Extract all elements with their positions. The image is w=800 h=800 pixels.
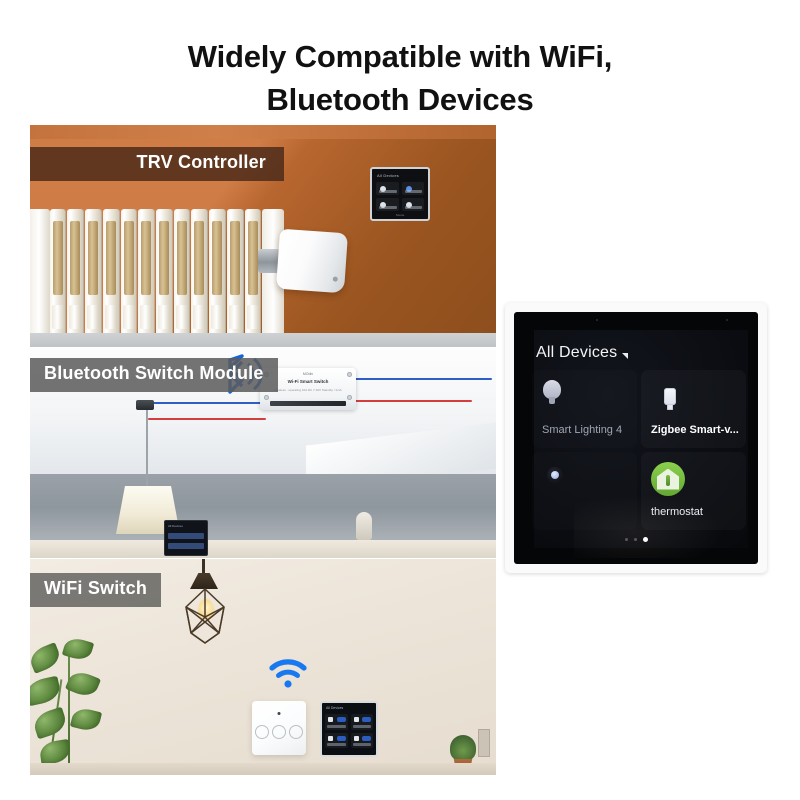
radiator-fin [50, 209, 67, 333]
wall-panel-title: All Devices [168, 524, 183, 528]
radiator-fin [85, 209, 102, 333]
decor-statue [356, 512, 372, 540]
room-wall [30, 474, 496, 558]
radiator-fin [174, 209, 191, 333]
device-toggle[interactable] [362, 717, 371, 722]
page-indicator[interactable] [514, 537, 758, 542]
radiator-fin [209, 209, 226, 333]
device-label-placeholder [327, 743, 346, 746]
status-led [278, 712, 281, 715]
device-icon [328, 717, 333, 722]
caption-wifi-switch: WiFi Switch [30, 573, 161, 607]
wall-panel-tile-grid [325, 714, 373, 748]
wall-panel-tile-grid [376, 182, 424, 211]
pendant-lamp-cord [146, 410, 148, 488]
panel-screen[interactable]: All Devices Smart Lighting 4 Zigbee Smar… [514, 312, 758, 564]
photo-panel-wifi-switch: All Devices [30, 559, 496, 775]
wall-panel-tile[interactable] [325, 714, 348, 730]
all-devices-title: All Devices [536, 344, 617, 362]
module-spec-label: Wireless · operating 10A DC 7-32V Standb… [268, 388, 348, 393]
smart-control-panel[interactable]: All Devices Smart Lighting 4 Zigbee Smar… [505, 303, 767, 573]
radiator-fin [103, 209, 120, 333]
wall-panel-tile[interactable] [325, 733, 348, 749]
page-title-line-1: Widely Compatible with WiFi, [188, 39, 612, 74]
device-label-placeholder [327, 725, 346, 728]
radiator-illustration [30, 209, 284, 333]
wall-panel-title: All Devices [377, 173, 399, 178]
device-tile-grid: Smart Lighting 4 Zigbee Smart-v... therm… [532, 370, 746, 530]
device-tile-color-light[interactable] [532, 452, 637, 530]
wifi-touch-switch-panel[interactable] [252, 701, 306, 755]
device-icon [328, 736, 333, 741]
plant-foliage [450, 735, 476, 761]
wire-red-right [352, 400, 472, 402]
wall-panel-tile-row[interactable] [168, 543, 204, 549]
page-dot-1[interactable] [625, 538, 628, 541]
chevron-down-icon[interactable] [622, 353, 628, 359]
pendant-cage-cord [202, 559, 205, 575]
page-title-line-2: Bluetooth Devices [0, 79, 800, 122]
product-photo-stack: All Devices Scene [30, 125, 496, 775]
potted-plant-left [30, 625, 144, 775]
device-label-placeholder [353, 743, 372, 746]
wire-blue-right [352, 378, 492, 380]
touch-button-1[interactable] [255, 725, 269, 739]
plant-leaf [30, 642, 63, 674]
touch-button-3[interactable] [289, 725, 303, 739]
plant-leaf [31, 707, 69, 740]
wifi-icon [268, 657, 308, 694]
wall-panel-tile[interactable] [351, 714, 374, 730]
sensor-dot [726, 319, 728, 321]
device-toggle[interactable] [337, 736, 346, 741]
floor-strip [30, 333, 496, 347]
wall-smart-panel-wifi-scene[interactable]: All Devices [320, 701, 378, 757]
all-devices-header[interactable]: All Devices [536, 344, 628, 362]
device-label-placeholder [353, 725, 372, 728]
wall-panel-tile[interactable] [376, 198, 399, 211]
screw-terminal [347, 395, 352, 400]
device-toggle[interactable] [362, 736, 371, 741]
radiator-fin [138, 209, 155, 333]
radiator-end-cap [30, 209, 50, 333]
wall-smart-panel-bluetooth-scene[interactable]: All Devices [164, 520, 208, 556]
sensor-dot [596, 319, 598, 321]
radiator-fin [121, 209, 138, 333]
wall-smart-panel-trv-scene[interactable]: All Devices Scene [370, 167, 430, 221]
device-icon [354, 736, 359, 741]
wall-panel-tile[interactable] [351, 733, 374, 749]
wall-panel-footer: Scene [372, 213, 428, 217]
plant-leaf [39, 739, 72, 765]
radiator-fin [67, 209, 84, 333]
floor-strip [30, 540, 496, 558]
plant-leaf [65, 668, 101, 700]
caption-bluetooth-switch-module: Bluetooth Switch Module [30, 358, 278, 392]
radiator-fin [191, 209, 208, 333]
trv-valve-head [276, 229, 348, 294]
device-toggle[interactable] [337, 717, 346, 722]
device-label-placeholder [405, 190, 423, 193]
device-label-placeholder [405, 206, 423, 209]
wire-blue-left [148, 402, 266, 404]
device-tile-label: thermostat [651, 506, 740, 518]
wall-panel-title: All Devices [326, 706, 343, 710]
device-label-placeholder [379, 206, 397, 209]
radiator-fin [227, 209, 244, 333]
plant-leaf [70, 706, 102, 733]
touch-button-2[interactable] [272, 725, 286, 739]
page-title: Widely Compatible with WiFi, Bluetooth D… [0, 36, 800, 122]
caption-trv-controller: TRV Controller [30, 147, 284, 181]
radiator-fin [156, 209, 173, 333]
photo-panel-trv-controller: All Devices Scene [30, 125, 496, 347]
page-dot-2[interactable] [634, 538, 637, 541]
geometric-cage-shade [180, 587, 230, 645]
wall-panel-tile[interactable] [402, 198, 425, 211]
wall-panel-tile[interactable] [376, 182, 399, 195]
thermostat-icon [651, 462, 685, 496]
wall-panel-tile[interactable] [402, 182, 425, 195]
device-tile-label: Zigbee Smart-v... [651, 424, 740, 436]
photo-panel-bluetooth-switch-module: MOdin Wi-Fi Smart Switch Wireless · oper… [30, 348, 496, 558]
page-dot-3-active[interactable] [643, 537, 648, 542]
module-terminal-block [270, 401, 346, 406]
device-label-placeholder [379, 190, 397, 193]
wire-junction-connector [136, 400, 154, 410]
plant-leaf [62, 636, 94, 663]
touch-button-group [252, 725, 306, 739]
screw-terminal [264, 395, 269, 400]
device-tile-thermostat[interactable]: thermostat [641, 452, 746, 530]
device-tile-zigbee-smart-valve[interactable]: Zigbee Smart-v... [641, 370, 746, 448]
device-icon [354, 717, 359, 722]
device-tile-smart-lighting[interactable]: Smart Lighting 4 [532, 370, 637, 448]
wire-red-left [148, 418, 266, 420]
small-wall-frame [478, 729, 490, 757]
floor-strip [30, 763, 496, 775]
device-tile-label: Smart Lighting 4 [542, 424, 631, 436]
wall-panel-tile-row[interactable] [168, 533, 204, 539]
wall-top-trim [30, 125, 496, 139]
